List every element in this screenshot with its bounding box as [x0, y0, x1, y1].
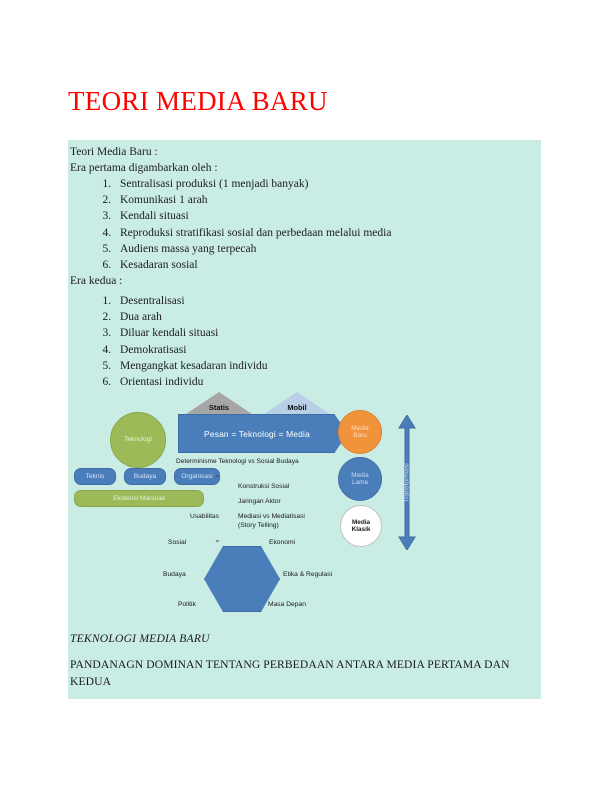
caption-teknologi-media-baru: TEKNOLOGI MEDIA BARU: [68, 631, 541, 647]
teknologi-label: Teknologi: [124, 436, 152, 443]
konstruksi-sosial-label: Konstruksi Sosial: [238, 482, 289, 491]
hexagon-label-etika: Etika & Regulasi: [283, 570, 332, 579]
organisasi-label: Organisasi: [181, 473, 213, 480]
intro-line-2: Era pertama digambarkan oleh :: [68, 160, 541, 176]
media-baru-label: Media Baru: [351, 425, 368, 439]
content-block-era-pertama: Teori Media Baru : Era pertama digambark…: [68, 140, 541, 292]
teknis-box: Teknis: [74, 468, 116, 485]
transformasi-label: Transformasi: [404, 463, 411, 502]
media-baru-line2: Baru: [353, 432, 367, 439]
list-item: Desentralisasi: [114, 293, 541, 309]
page-title: TEORI MEDIA BARU: [68, 86, 328, 117]
document-page: TEORI MEDIA BARU Teori Media Baru : Era …: [0, 0, 612, 792]
media-klasik-line1: Media: [352, 519, 370, 526]
determinisme-label: Determinisme Teknologi vs Sosial Budaya: [176, 458, 299, 467]
list-item: Orientasi individu: [114, 374, 541, 390]
list-item: Demokratisasi: [114, 342, 541, 358]
budaya-label: Budaya: [134, 473, 156, 480]
transformasi-arrow: Transformasi: [398, 415, 416, 550]
banner-label: Pesan = Teknologi = Media: [204, 429, 322, 439]
media-klasik-label: Media Klasik: [352, 519, 371, 533]
media-lama-label: Media Lama: [351, 472, 368, 486]
media-baru-circle: Media Baru: [338, 410, 382, 454]
media-theory-diagram: Statis Mobil Pesan = Teknologi = Media T…: [68, 390, 541, 625]
statis-label: Statis: [186, 403, 252, 412]
list-item: Kendali situasi: [114, 208, 541, 224]
list-item: Dua arah: [114, 309, 541, 325]
list-item: Audiens massa yang terpecah: [114, 241, 541, 257]
hexagon-label-ekonomi: Ekonomi: [269, 538, 295, 547]
content-block-caption: TEKNOLOGI MEDIA BARU PANDANAGN DOMINAN T…: [68, 625, 541, 699]
era-pertama-list: Sentralisasi produksi (1 menjadi banyak)…: [68, 176, 541, 273]
ekstensi-manusia-box: Ekstensi Manusia: [74, 490, 204, 507]
media-klasik-line2: Klasik: [352, 526, 371, 533]
caption-pandangan-dominan: PANDANAGN DOMINAN TENTANG PERBEDAAN ANTA…: [68, 647, 541, 690]
media-klasik-circle: Media Klasik: [340, 505, 382, 547]
era-kedua-list: Desentralisasi Dua arah Diluar kendali s…: [68, 293, 541, 390]
content-block-diagram: Statis Mobil Pesan = Teknologi = Media T…: [68, 390, 541, 625]
list-item: Mengangkat kesadaran individu: [114, 358, 541, 374]
jaringan-aktor-label: Jaringan Aktor: [238, 497, 281, 506]
budaya-box: Budaya: [124, 468, 166, 485]
media-baru-line1: Media: [351, 425, 368, 432]
hexagon-label-sosial: Sosial: [168, 538, 186, 547]
teknis-label: Teknis: [86, 473, 105, 480]
list-item: Diluar kendali situasi: [114, 325, 541, 341]
mediasi-label: Mediasi vs Mediatisasi: [238, 512, 305, 521]
hexagon-label-politik: Politik: [178, 600, 196, 609]
media-lama-line1: Media: [351, 472, 368, 479]
list-item: Reproduksi stratifikasi sosial dan perbe…: [114, 225, 541, 241]
intro-line-1: Teori Media Baru :: [68, 144, 541, 160]
hexagon-label-budaya: Budaya: [163, 570, 186, 579]
list-item: Komunikasi 1 arah: [114, 192, 541, 208]
list-item: Sentralisasi produksi (1 menjadi banyak): [114, 176, 541, 192]
caret-down-icon: ⌄: [214, 535, 221, 544]
pesan-teknologi-media-banner: Pesan = Teknologi = Media: [178, 414, 348, 453]
hexagon-label-masa-depan: Masa Depan: [268, 600, 306, 609]
teknologi-circle: Teknologi: [110, 412, 166, 468]
usabilitas-label: Usabilitas: [190, 512, 219, 521]
story-telling-label: (Story Telling): [238, 521, 279, 530]
closing-line: Era kedua :: [68, 273, 541, 289]
mobil-label: Mobil: [264, 403, 330, 412]
content-block-era-kedua: Desentralisasi Dua arah Diluar kendali s…: [68, 288, 541, 394]
ekstensi-manusia-label: Ekstensi Manusia: [113, 495, 165, 502]
media-lama-line2: Lama: [352, 479, 368, 486]
caret-up-icon: ⌃: [214, 474, 221, 483]
list-item: Kesadaran sosial: [114, 257, 541, 273]
media-lama-circle: Media Lama: [338, 457, 382, 501]
